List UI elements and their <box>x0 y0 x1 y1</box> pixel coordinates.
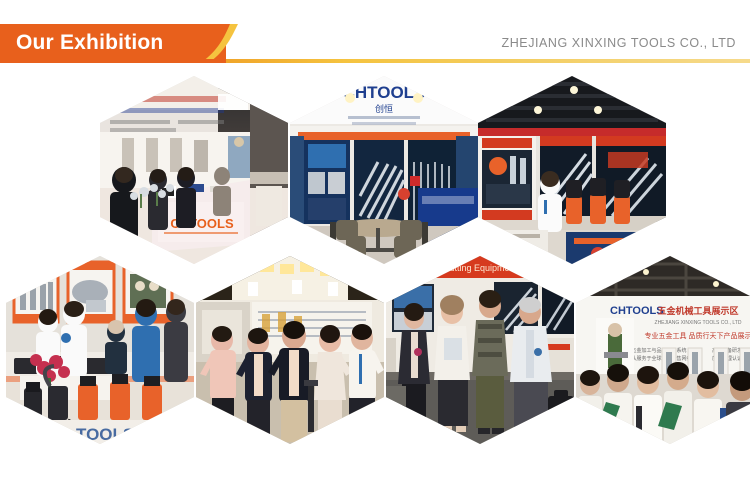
page-title: Our Exhibition <box>16 25 226 61</box>
page-header: Our Exhibition ZHEJIANG XINXING TOOLS CO… <box>0 0 750 76</box>
exhibition-page: Our Exhibition ZHEJIANG XINXING TOOLS CO… <box>0 0 750 484</box>
svg-text:ZHEJIANG XINXING TOOLS CO., LT: ZHEJIANG XINXING TOOLS CO., LTD <box>655 320 742 326</box>
exhibition-photo-tile[interactable]: TOOLS <box>6 256 194 444</box>
svg-text:Cutting Equipment: Cutting Equipment <box>443 263 518 273</box>
exhibition-photo-tile[interactable]: CHTOOLS 创恒 五金机械工具展示区 ZHEJIANG XINXING TO… <box>576 256 750 444</box>
exhibition-photo-tile[interactable]: CHTOOLS <box>100 76 288 264</box>
exhibition-photo-tile[interactable] <box>196 256 384 444</box>
exhibition-photo-tile[interactable] <box>478 76 666 264</box>
svg-text:专业五金工具 品质行天下产品展示: 专业五金工具 品质行天下产品展示 <box>645 331 750 340</box>
svg-text:CHTOOLS: CHTOOLS <box>343 83 426 102</box>
exhibition-photo-tile[interactable]: CHTOOLS 创恒 <box>290 76 478 264</box>
svg-text:五金机械工具展示区: 五金机械工具展示区 <box>657 305 738 316</box>
exhibition-photo-grid: CHTOOLS <box>0 70 750 484</box>
exhibition-photo-tile[interactable]: Cutting Equipment <box>386 256 574 444</box>
company-name: ZHEJIANG XINXING TOOLS CO., LTD <box>502 36 736 50</box>
svg-text:TOOLS: TOOLS <box>76 425 134 444</box>
svg-text:创恒: 创恒 <box>375 103 393 114</box>
svg-text:CHTOOLS: CHTOOLS <box>610 305 664 317</box>
header-rule-left-segment <box>0 59 226 63</box>
